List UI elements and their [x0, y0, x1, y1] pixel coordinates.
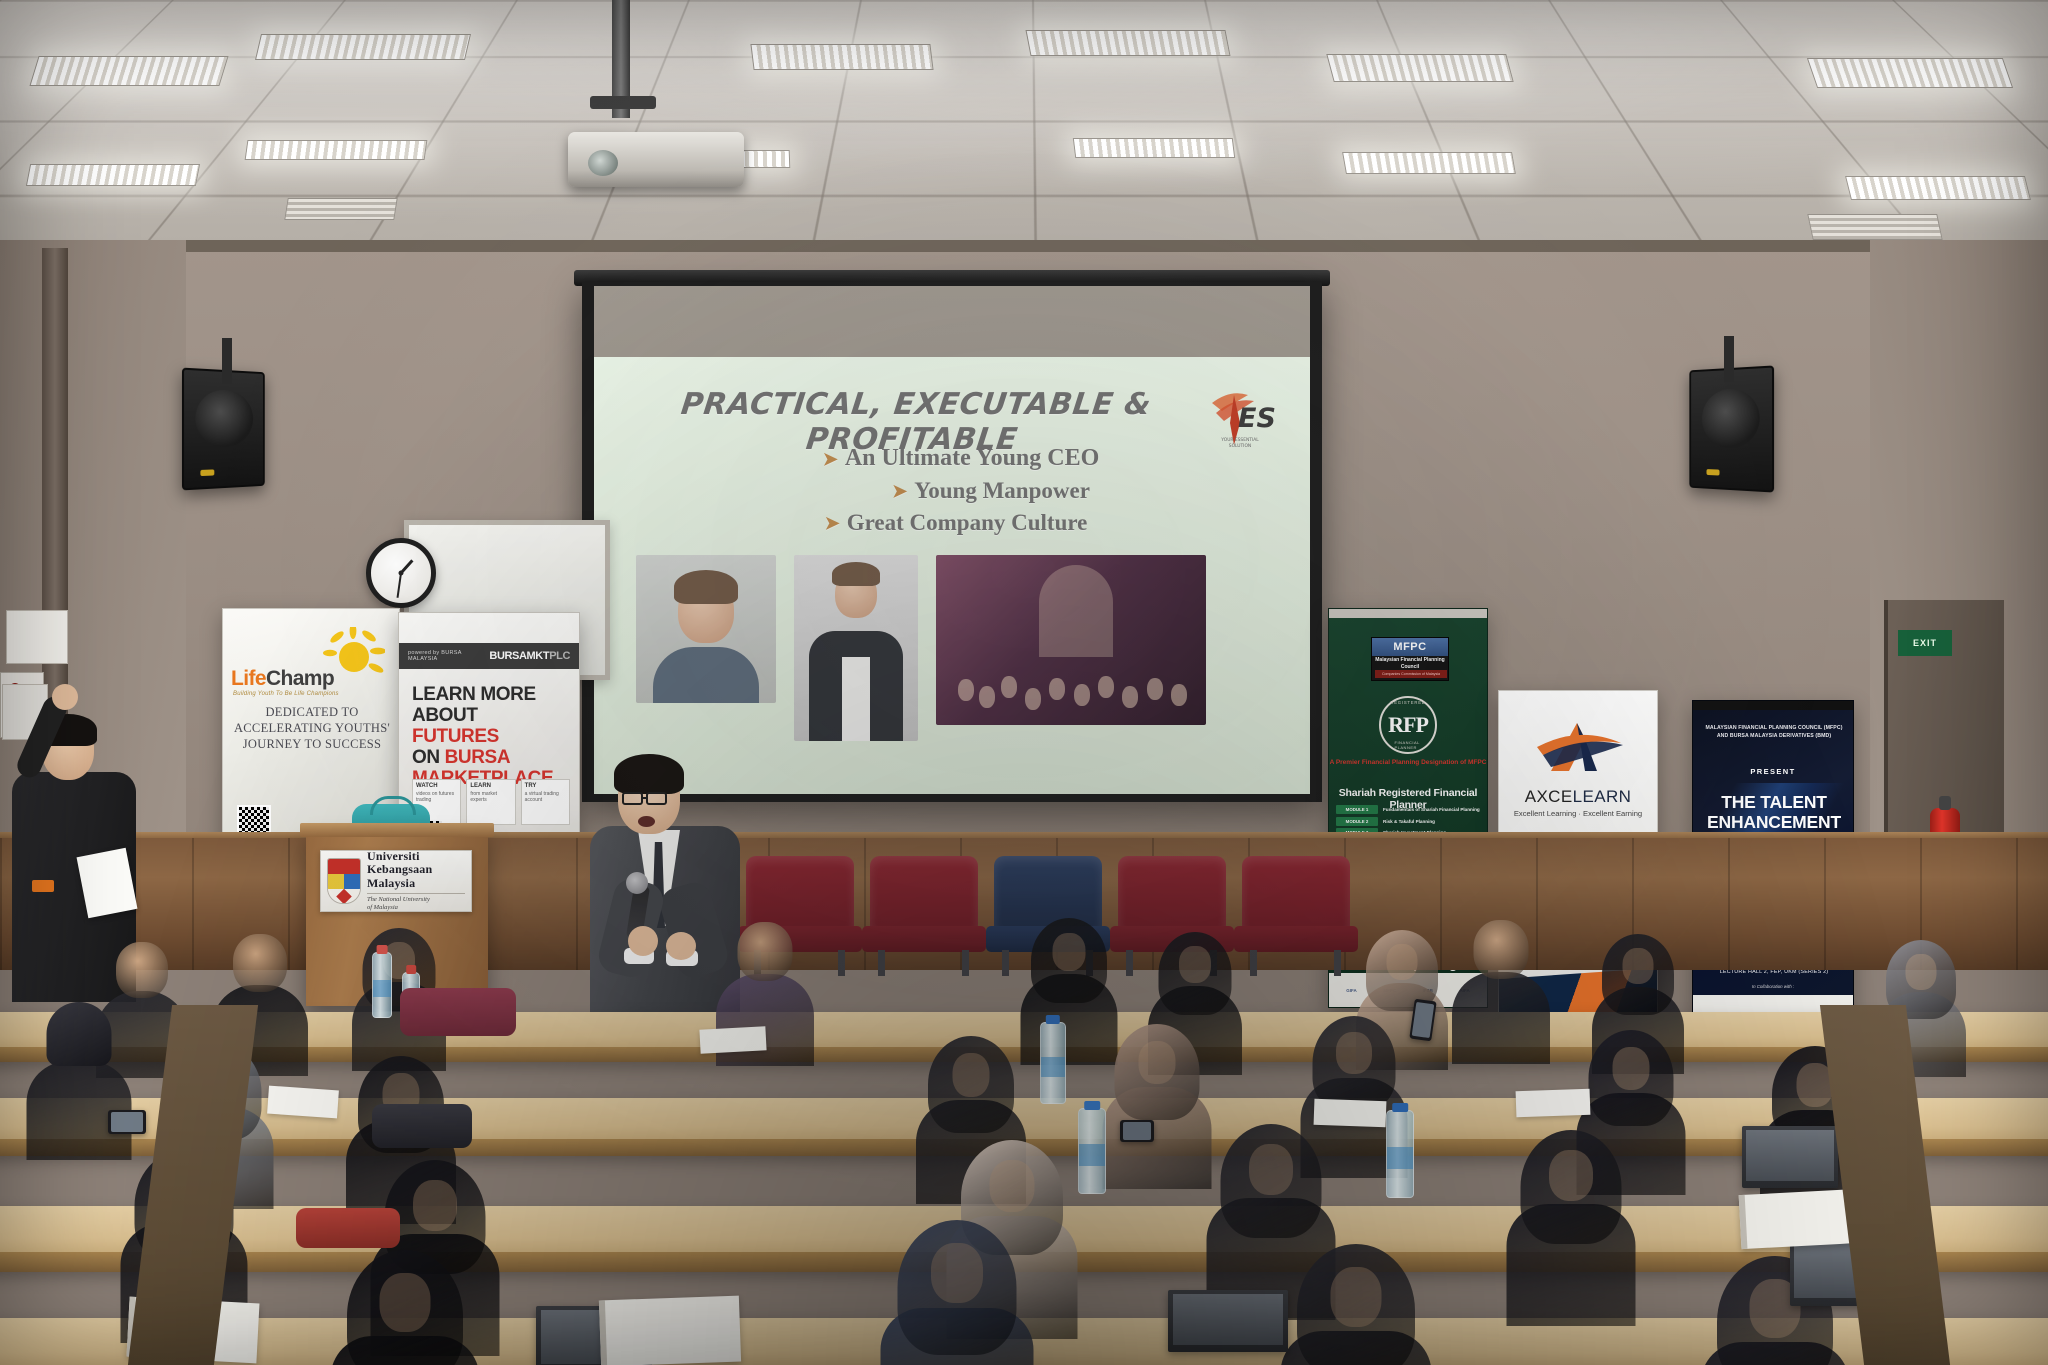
speaker-mount-arm — [222, 338, 232, 384]
bursa-headline: LEARN MORE ABOUT FUTURES ON BURSA MARKET… — [412, 685, 568, 789]
lifechamp-name-part2: Champ — [266, 667, 334, 690]
bursa-card-text: from market experts — [470, 791, 497, 803]
eyeglasses-bridge — [643, 797, 648, 799]
bullet-arrow-icon: ➤ — [823, 450, 838, 468]
eyeglasses-icon — [646, 792, 667, 805]
bursa-headline-line2b: FUTURES — [412, 726, 499, 747]
eyeglasses-icon — [622, 792, 643, 805]
audience-face — [1249, 1144, 1293, 1195]
audience-face — [1623, 948, 1654, 984]
projector-lens-icon — [588, 150, 618, 176]
slide-bullet-item: ➤ Young Manpower — [594, 478, 1310, 504]
audience-face — [953, 1053, 990, 1097]
audience-member — [1452, 916, 1550, 1064]
bursa-card-text: a virtual trading account — [525, 791, 559, 803]
ceiling-light-panel — [1326, 54, 1514, 82]
audience-face — [989, 1160, 1034, 1212]
lifechamp-wordmark: LifeChamp — [231, 667, 381, 691]
bursa-header-left: powered by BURSA MALAYSIA — [408, 650, 489, 662]
paper-handout — [267, 1086, 339, 1119]
axcelearn-logo-icon — [1499, 713, 1657, 779]
audience-face — [413, 1180, 457, 1231]
audience-face — [931, 1243, 983, 1303]
ceiling-light-panel — [26, 164, 200, 186]
ukm-subtitle-2: of Malaysia — [367, 904, 465, 912]
audience-shoulders — [716, 974, 814, 1066]
presenter-hair — [614, 754, 684, 794]
audience-member — [330, 1250, 479, 1365]
audience-head — [738, 922, 793, 981]
podium-top-surface — [300, 823, 494, 837]
bursa-card-text: videos on futures trading — [416, 791, 454, 803]
handbag — [400, 988, 516, 1036]
paper-handout — [1314, 1099, 1387, 1127]
mfpc-registration-note: Companies Commission of Malaysia — [1375, 670, 1447, 678]
notebook — [599, 1296, 741, 1365]
bursa-header-right: BURSAMKTPLC — [489, 650, 570, 662]
paper-handout — [1516, 1089, 1591, 1118]
rfp-financial-label: FINANCIAL PLANNER — [1395, 740, 1422, 750]
ceiling-light-panel — [255, 34, 471, 60]
banner-top-rail — [1329, 609, 1487, 618]
wall-speaker-right — [1689, 365, 1774, 492]
banner-top-rail — [1693, 701, 1853, 710]
presenter-right-hand — [666, 932, 696, 960]
ceiling-light-panel — [1807, 58, 2013, 88]
audience-cap — [46, 1002, 111, 1066]
stage-chair[interactable] — [862, 856, 986, 974]
ceiling-light-panel — [1342, 152, 1516, 174]
axcelearn-name-part2: LEARN — [1573, 787, 1632, 806]
ceiling-light-panel — [750, 44, 933, 70]
lifechamp-body-text: DEDICATED TO ACCELERATING YOUTHS' JOURNE… — [231, 705, 393, 752]
laptop[interactable] — [1168, 1290, 1288, 1352]
bursa-header-bar: powered by BURSA MALAYSIA BURSAMKTPLC — [399, 643, 579, 669]
ceiling-light-panel — [29, 56, 228, 86]
backpack — [372, 1104, 472, 1148]
audience-face — [1387, 944, 1418, 980]
clock-minute-hand — [397, 573, 402, 598]
audience-head — [116, 942, 168, 998]
water-bottle — [1386, 1110, 1414, 1198]
lifechamp-tagline: Building Youth To Be Life Champions — [233, 691, 389, 697]
bursa-wordmark-2: MKT — [527, 650, 550, 662]
presenter-mouth — [638, 816, 655, 827]
audience-member — [1102, 1024, 1211, 1189]
rfp-logo: REGISTERED RFP FINANCIAL PLANNER — [1329, 693, 1487, 757]
yes-logo-tagline: YOUR ESSENTIAL — [1220, 437, 1259, 443]
audience-face — [1138, 1041, 1175, 1084]
rfp-wordmark: RFP — [1388, 712, 1428, 738]
audience-face — [1549, 1150, 1593, 1201]
slide-photo-company-culture — [936, 555, 1206, 725]
audience-member — [1280, 1244, 1431, 1365]
bursa-headline-line3a: ON — [412, 747, 445, 768]
folder — [296, 1208, 400, 1248]
ceiling-light-panel — [1073, 138, 1235, 158]
bursa-headline-line3b: BURSA — [445, 747, 511, 768]
audience-member — [1506, 1130, 1635, 1326]
speaker-led-icon — [201, 469, 215, 476]
bursa-wordmark-3: PLC — [549, 650, 570, 662]
exit-sign: EXIT — [1898, 630, 1952, 656]
assistant-raised-hand — [52, 684, 78, 710]
mfpc-title: MFPC — [1372, 638, 1448, 656]
slide-photo-young-manpower — [794, 555, 918, 741]
ukm-plaque: Universiti Kebangsaan Malaysia The Natio… — [320, 850, 472, 912]
bursa-card-title: TRY — [525, 783, 566, 789]
wall-speaker-left — [182, 368, 265, 491]
water-bottle — [1078, 1108, 1106, 1194]
axcelearn-name-part1: AXCE — [1525, 787, 1573, 806]
talent-present-label: PRESENT — [1693, 767, 1853, 776]
lifechamp-name-part1: Life — [231, 667, 266, 690]
speaker-led-icon — [1706, 469, 1719, 475]
slide-photo-strip — [636, 555, 1276, 755]
audience-face — [1336, 1032, 1372, 1074]
ukm-crest-icon — [327, 858, 361, 904]
bullet-text: An Ultimate Young CEO — [845, 445, 1099, 472]
module-row: MODULE 1 Fundamentals of Shariah Financi… — [1336, 805, 1484, 814]
bursa-card: TRY a virtual trading account — [521, 779, 570, 825]
audience-head — [1474, 920, 1529, 979]
wall-top-trim — [0, 240, 2048, 252]
ceiling-light-panel — [1845, 176, 2031, 200]
presentation-slide: PRACTICAL, EXECUTABLE & PROFITABLE ES YO… — [594, 357, 1310, 794]
module-tag: MODULE 2 — [1336, 817, 1378, 826]
lecture-hall-photograph: PRACTICAL, EXECUTABLE & PROFITABLE ES YO… — [0, 0, 2048, 1365]
air-vent — [284, 198, 397, 220]
bullet-arrow-icon: ➤ — [892, 482, 907, 500]
audience-face — [1906, 954, 1937, 990]
talent-collab-label: In Collaboration with : — [1693, 984, 1853, 989]
ceiling-light-panel — [1025, 30, 1230, 56]
audience-face — [1179, 946, 1211, 983]
audience-member — [26, 1000, 131, 1160]
smartphone[interactable] — [1120, 1120, 1154, 1142]
rfp-designation-text: A Premier Financial Planning Designation… — [1329, 759, 1487, 768]
module-title: Risk & Takaful Planning — [1383, 819, 1435, 824]
ukm-line-3: Malaysia — [367, 876, 415, 890]
ukm-line-2: Kebangsaan — [367, 862, 432, 876]
bullet-text: Young Manpower — [914, 478, 1090, 504]
bursa-feature-cards: WATCH videos on futures trading LEARN fr… — [412, 779, 570, 825]
smartphone[interactable] — [108, 1110, 146, 1134]
audience-member — [880, 1220, 1033, 1365]
projection-screen: PRACTICAL, EXECUTABLE & PROFITABLE ES YO… — [594, 286, 1310, 794]
yes-logo-icon: ES YOUR ESSENTIAL SOLUTION — [1204, 377, 1276, 455]
bursa-headline-line1: LEARN MORE — [412, 685, 568, 706]
assistant-shirt-logo — [32, 880, 54, 892]
presenter-left-hand — [628, 926, 658, 956]
wall-clock — [366, 538, 436, 608]
ceiling-light-panel — [245, 140, 428, 160]
projector-mount-bracket — [590, 96, 656, 109]
water-bottle — [1040, 1022, 1066, 1104]
speaker-mount-arm — [1724, 336, 1734, 382]
audience-face — [1612, 1047, 1649, 1090]
module-title: Fundamentals of Shariah Financial Planni… — [1383, 807, 1480, 812]
bullet-text: Great Company Culture — [847, 510, 1088, 536]
mfpc-logo-block: MFPC Malaysian Financial Planning Counci… — [1371, 637, 1449, 681]
bursa-card: LEARN from market experts — [466, 779, 515, 825]
stage-chair[interactable] — [1234, 856, 1358, 974]
clock-center-pin — [399, 571, 404, 576]
bursa-card-title: LEARN — [470, 783, 511, 789]
microphone-head-icon — [626, 872, 648, 894]
bursa-card-title: WATCH — [416, 783, 457, 789]
slide-photo-young-ceo — [636, 555, 776, 703]
axcelearn-tagline: Excellent Learning · Excellent Earning — [1499, 809, 1657, 818]
wall-notice — [6, 610, 68, 664]
axcelearn-wordmark: AXCELEARN — [1499, 787, 1657, 807]
audience-head — [233, 934, 287, 992]
ukm-line-1: Universiti — [367, 849, 420, 863]
audience-shoulders — [1452, 972, 1550, 1064]
audience-face — [379, 1273, 430, 1332]
slide-bullet-list: ➤ An Ultimate Young CEO ➤ Young Manpower… — [594, 445, 1310, 542]
bursa-headline-line2a: ABOUT — [412, 705, 478, 726]
bullet-arrow-icon: ➤ — [825, 514, 840, 532]
ukm-subtitle-1: The National University — [367, 896, 465, 904]
slide-bullet-item: ➤ Great Company Culture — [594, 510, 1310, 536]
audience-face — [1330, 1267, 1381, 1327]
air-vent — [1807, 214, 1943, 240]
module-tag: MODULE 1 — [1336, 805, 1378, 814]
rfp-registered-label: REGISTERED — [1390, 700, 1425, 705]
module-row: MODULE 2 Risk & Takaful Planning — [1336, 817, 1484, 826]
talent-title-line1: THE TALENT — [1697, 793, 1851, 813]
water-bottle — [372, 952, 392, 1018]
slide-bullet-item: ➤ An Ultimate Young CEO — [594, 445, 1310, 472]
bursa-wordmark-1: BURSA — [489, 650, 526, 662]
paper-handout — [699, 1026, 766, 1053]
audience-face — [1052, 933, 1085, 971]
talent-organisers: MALAYSIAN FINANCIAL PLANNING COUNCIL (MF… — [1701, 725, 1847, 740]
talent-title-line2: ENHANCEMENT — [1697, 813, 1851, 833]
svg-text:ES: ES — [1238, 403, 1276, 434]
laptop[interactable] — [1742, 1126, 1838, 1188]
